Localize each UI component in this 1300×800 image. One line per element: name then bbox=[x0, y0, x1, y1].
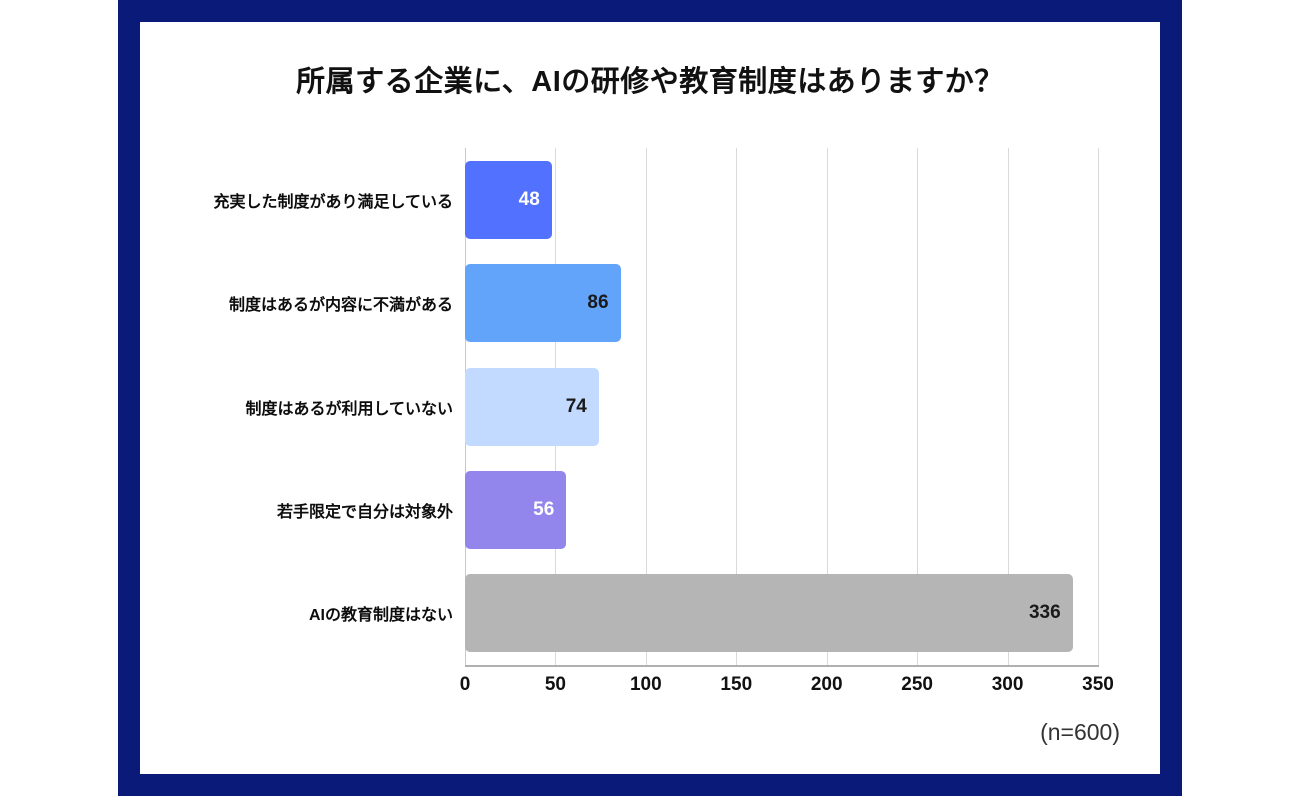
slide-navy-frame: 所属する企業に、AIの研修や教育制度はありますか？ 充実した制度があり満足してい… bbox=[118, 0, 1182, 796]
category-label: 充実した制度があり満足している bbox=[213, 188, 453, 212]
bar-value-label: 336 bbox=[1029, 602, 1061, 624]
bar-value-label: 74 bbox=[566, 396, 587, 418]
x-tick-label: 50 bbox=[545, 674, 566, 696]
x-tick-label: 150 bbox=[720, 674, 752, 696]
bar-row[interactable]: 86 bbox=[465, 264, 621, 342]
bar-row[interactable]: 56 bbox=[465, 471, 566, 549]
x-tick-label: 250 bbox=[901, 674, 933, 696]
category-label: AIの教育制度はない bbox=[309, 601, 453, 625]
bar-value-label: 48 bbox=[519, 189, 540, 211]
x-axis-baseline bbox=[465, 665, 1099, 667]
x-tick-label: 100 bbox=[630, 674, 662, 696]
x-tick-label: 350 bbox=[1082, 674, 1114, 696]
category-label: 若手限定で自分は対象外 bbox=[277, 498, 453, 522]
bar-value-label: 56 bbox=[533, 499, 554, 521]
x-tick-label: 300 bbox=[992, 674, 1024, 696]
category-axis: 充実した制度があり満足している制度はあるが内容に不満がある制度はあるが利用してい… bbox=[185, 148, 453, 665]
chart-title: 所属する企業に、AIの研修や教育制度はありますか？ bbox=[140, 58, 1160, 100]
bar-row[interactable]: 48 bbox=[465, 161, 552, 239]
x-tick-label: 0 bbox=[460, 674, 471, 696]
bar-chart-plot-area: 48867456336 bbox=[465, 148, 1098, 665]
bar-row[interactable]: 74 bbox=[465, 368, 599, 446]
sample-size-note: (n=600) bbox=[1040, 719, 1120, 746]
bar[interactable] bbox=[465, 574, 1073, 652]
gridline-350 bbox=[1098, 148, 1099, 665]
category-label: 制度はあるが内容に不満がある bbox=[229, 291, 453, 315]
x-tick-label: 200 bbox=[811, 674, 843, 696]
bar-value-label: 86 bbox=[587, 292, 608, 314]
bar-row[interactable]: 336 bbox=[465, 574, 1073, 652]
category-label: 制度はあるが利用していない bbox=[245, 395, 453, 419]
slide-canvas: 所属する企業に、AIの研修や教育制度はありますか？ 充実した制度があり満足してい… bbox=[140, 22, 1160, 774]
